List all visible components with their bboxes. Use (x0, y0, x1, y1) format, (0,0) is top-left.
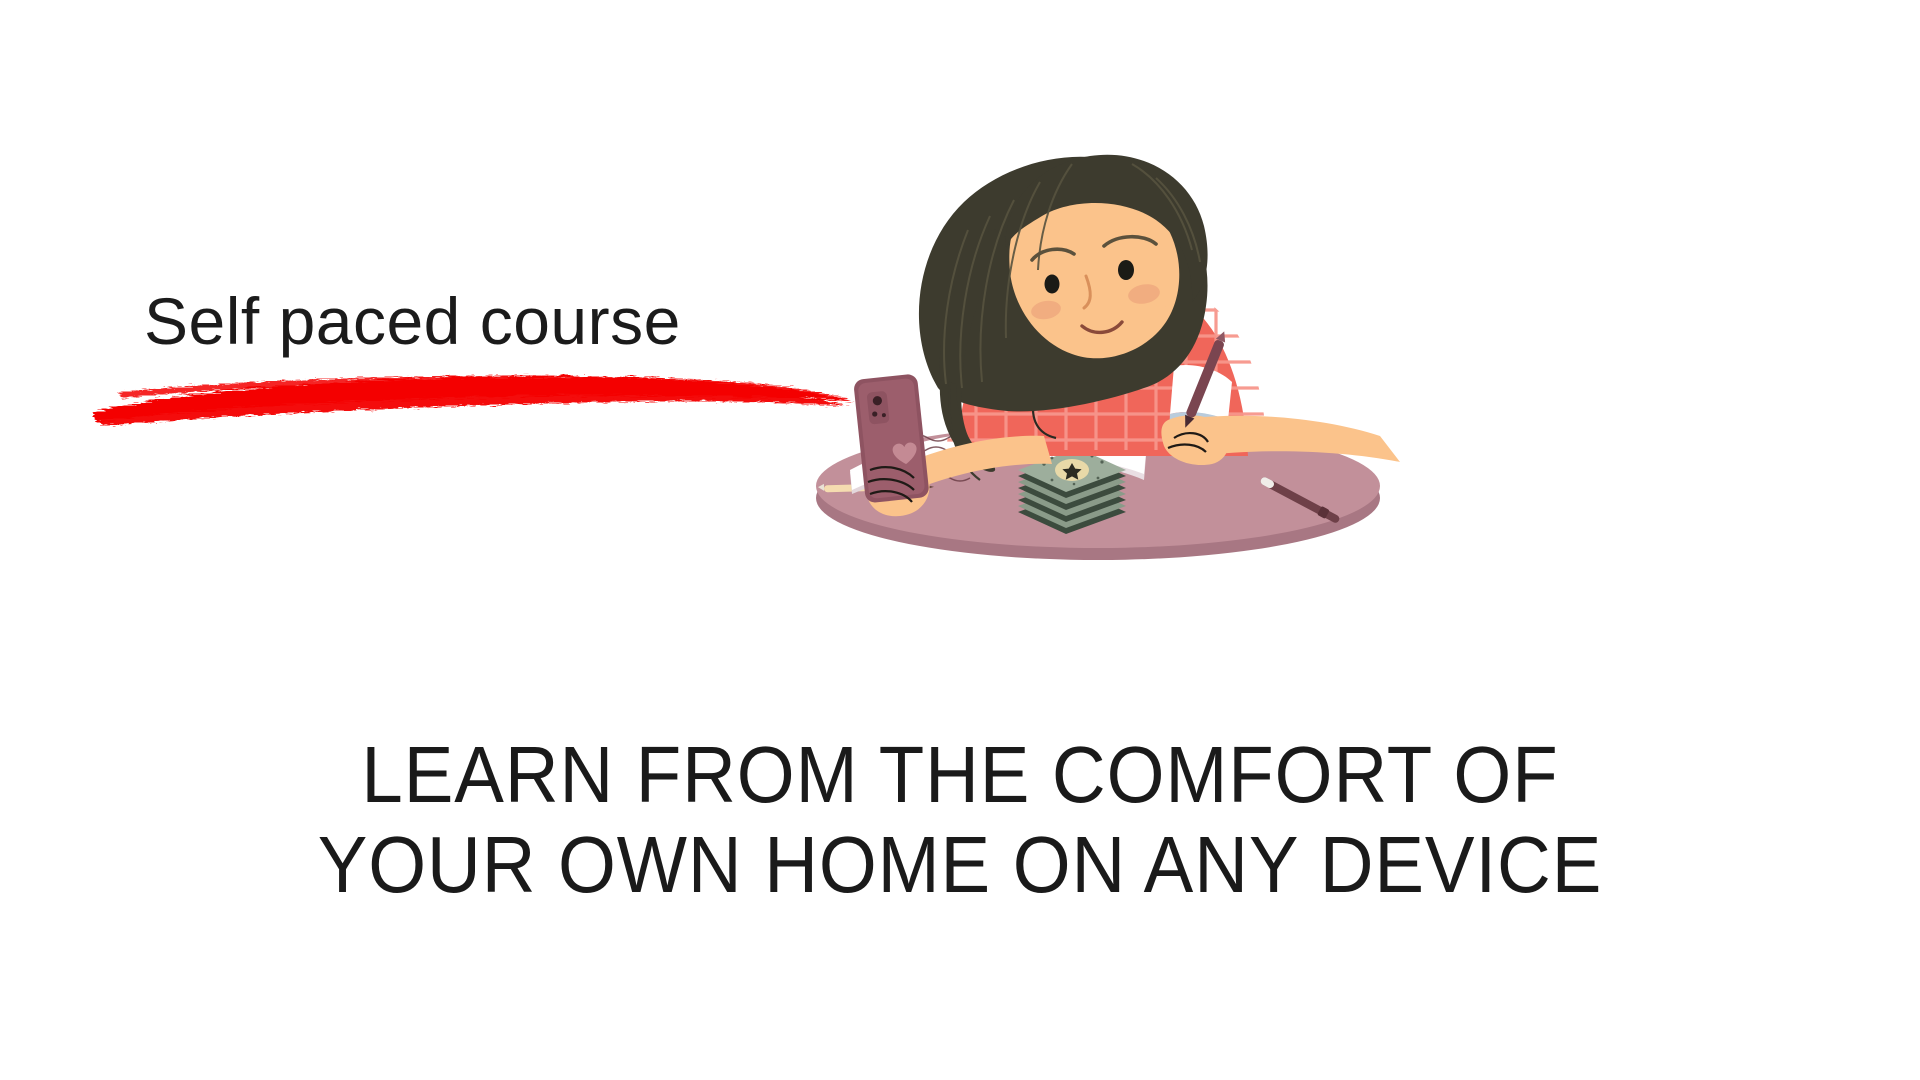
headline-line-2: YOUR OWN HOME ON ANY DEVICE (67, 820, 1853, 910)
slide-canvas: Self paced course (0, 0, 1920, 1080)
headline-line-1: LEARN FROM THE COMFORT OF (67, 730, 1853, 820)
headline-block: LEARN FROM THE COMFORT OF YOUR OWN HOME … (0, 730, 1920, 909)
illustration-woman-studying (700, 120, 1420, 650)
